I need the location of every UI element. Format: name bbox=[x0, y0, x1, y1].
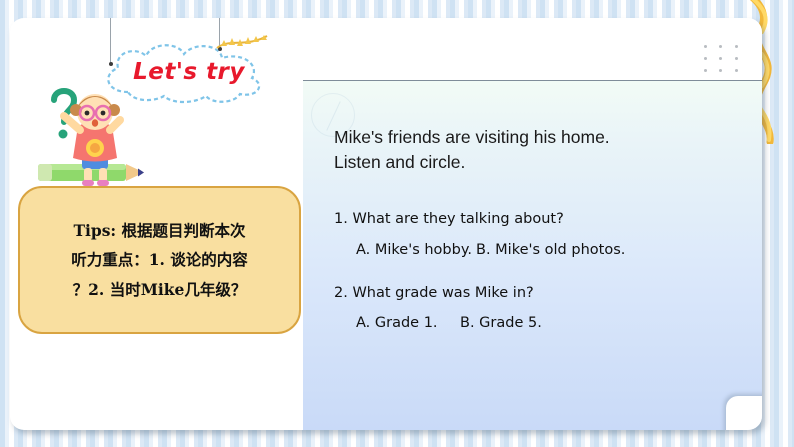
question-2-option-a[interactable]: A. Grade 1. bbox=[356, 315, 460, 331]
intro-text: Mike's friends are visiting his home. Li… bbox=[334, 125, 762, 176]
question-2-option-b[interactable]: B. Grade 5. bbox=[460, 315, 542, 331]
question-block-2: 2. What grade was Mike in? A. Grade 1. B… bbox=[334, 284, 762, 332]
question-1-options: A. Mike's hobby. B. Mike's old photos. bbox=[334, 242, 762, 258]
tips-box: Tips: 根据题目判断本次 听力重点：1. 谈论的内容 ？2. 当时Mike几… bbox=[18, 186, 301, 334]
slide-card: Let's try bbox=[10, 18, 762, 430]
question-2-body: What grade was Mike in? bbox=[352, 285, 533, 301]
question-2-text: 2. What grade was Mike in? bbox=[334, 284, 762, 303]
girl-on-pencil-illustration bbox=[32, 76, 150, 194]
question-mark-dot bbox=[59, 130, 68, 139]
question-2-number: 2. bbox=[334, 285, 348, 301]
tips-line-1: Tips: 根据题目判断本次 bbox=[73, 223, 245, 239]
sparkle-ribbon-icon bbox=[215, 34, 271, 52]
tips-line-3: ？2. 当时Mike几年级？ bbox=[73, 282, 247, 298]
question-1-option-b[interactable]: B. Mike's old photos. bbox=[476, 242, 625, 258]
question-1-number: 1. bbox=[334, 211, 348, 227]
dot-grid-decoration bbox=[698, 40, 744, 76]
question-1-option-a[interactable]: A. Mike's hobby. bbox=[356, 242, 476, 258]
question-1-body: What are they talking about? bbox=[352, 211, 563, 227]
content-panel: Mike's friends are visiting his home. Li… bbox=[303, 80, 762, 430]
tips-line-2: 听力重点：1. 谈论的内容 bbox=[71, 252, 248, 268]
intro-line-1: Mike's friends are visiting his home. bbox=[334, 125, 762, 150]
intro-line-2: Listen and circle. bbox=[334, 150, 762, 175]
question-block-1: 1. What are they talking about? A. Mike'… bbox=[334, 210, 762, 258]
question-1-text: 1. What are they talking about? bbox=[334, 210, 762, 229]
corner-fold-decoration bbox=[726, 396, 762, 430]
question-2-options: A. Grade 1. B. Grade 5. bbox=[334, 315, 762, 331]
